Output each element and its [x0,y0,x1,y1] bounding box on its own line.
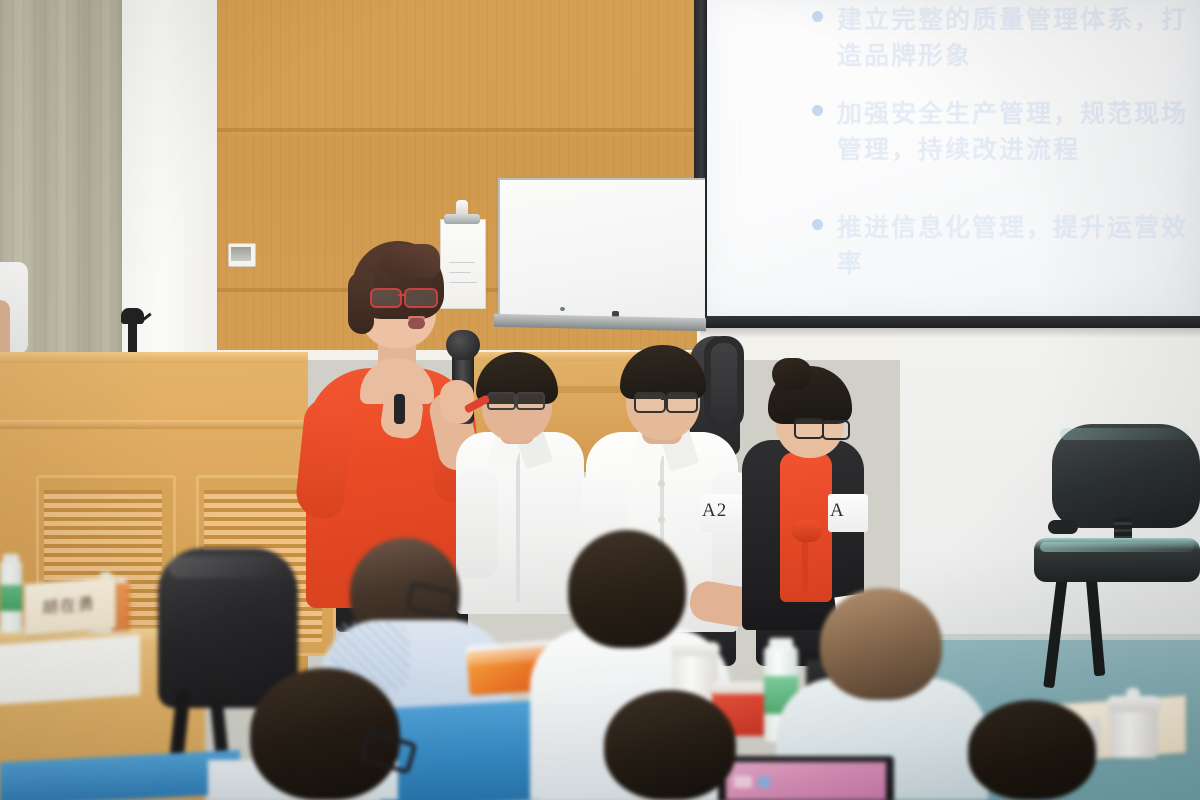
panelist-right-hair-bun [772,358,812,390]
audience-head [968,700,1096,800]
speaker-fringe [382,244,440,278]
whiteboard-magnet [560,307,565,311]
bullet-dot-icon [812,11,823,22]
water-bottle-label [0,585,22,611]
wood-panel-seam [217,128,697,132]
table-paper-stack [0,635,140,705]
tea-mug-lid [1106,696,1162,712]
slide-bullet-2-text: 加强安全生产管理，规范现场管理，持续改进流程 [837,96,1200,168]
panelist-right-badge-text: A [830,500,868,522]
conference-room-photo: 建立完整的质量管理体系，打造品牌形象 加强安全生产管理，规范现场管理，持续改进流… [0,0,1200,800]
shirt-button [658,480,665,487]
slide-bullet-2: 加强安全生产管理，规范现场管理，持续改进流程 [812,96,1200,168]
panelist-center-badge-text: A2 [702,500,746,522]
water-bottle-cap [3,554,19,564]
panelist-left-glasses-right-lens [516,392,545,410]
panelist-right-glasses-left-lens [794,418,824,439]
screen-shadow [700,328,1200,338]
bullet-dot-icon [812,219,823,230]
lectern-microphone-stem [128,312,137,356]
panelist-left-glasses-left-lens [487,392,516,410]
tea-mug-knob [1126,688,1140,698]
audience-head [820,588,942,700]
clipboard-clip-icon [444,214,480,224]
clipboard-text-line [449,262,475,263]
lectern-rail [0,420,308,429]
panelist-center-glasses-right-lens [666,392,698,413]
tea-mug [1110,706,1158,758]
water-bottle-cap [769,638,793,650]
wall-pillar [122,0,217,360]
speaker-glasses-left-lens [370,288,402,308]
screen-frame-bottom [694,316,1200,328]
office-chair-highlight [168,556,286,578]
speaker-glasses-bridge [398,294,406,296]
whiteboard [498,178,705,322]
lectern-top-edge [0,352,308,363]
panelist-center-glasses-bridge [661,398,668,400]
clip-microphone [394,394,405,424]
slide-bullet-1: 建立完整的质量管理体系，打造品牌形象 [812,2,1200,74]
slide-bullet-3: 推进信息化管理，提升运营效率 [812,210,1200,282]
speaker-hand-right [440,380,474,424]
audience-head [568,530,686,648]
chair-armrest [704,336,744,430]
slide-content: 建立完整的质量管理体系，打造品牌形象 加强安全生产管理，规范现场管理，持续改进流… [812,2,1200,282]
shirt-button [658,516,665,523]
microphone-head-icon [446,330,480,360]
foreground-audience-layer: 胡在勇 李 萌 [0,530,1200,800]
clipboard-text-line [449,282,477,283]
speaker-mouth [408,318,425,329]
slide-bullet-1-text: 建立完整的质量管理体系，打造品牌形象 [837,2,1200,74]
laptop-window-icon [734,776,752,788]
tea-mug-lid [670,642,720,656]
wall-clipboard [440,219,486,309]
empty-chair-highlight [1060,428,1190,440]
panelist-center-glasses-left-lens [634,392,666,413]
audience-head [604,690,736,800]
laptop-app-icon [758,776,770,788]
panelist-right-glasses-right-lens [822,420,850,440]
bullet-dot-icon [812,105,823,116]
wall-switch-icon [231,247,251,261]
speaker-glasses-right-lens [404,288,438,308]
slide-bullet-3-text: 推进信息化管理，提升运营效率 [837,210,1200,282]
clipboard-text-line [449,272,471,273]
